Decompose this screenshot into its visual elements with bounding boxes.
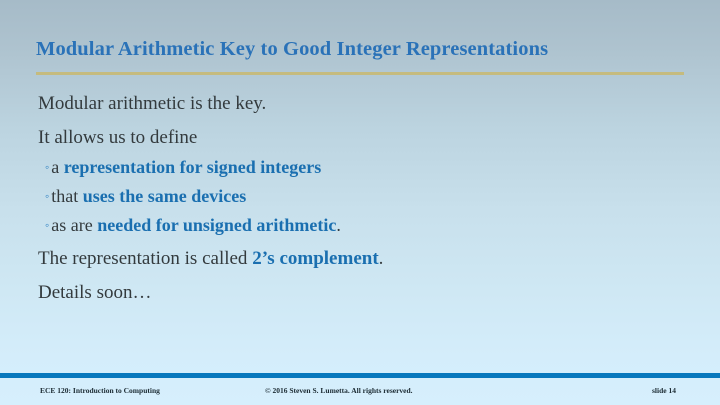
slide-body: Modular arithmetic is the key. It allows… <box>38 88 678 302</box>
body-line-3: The representation is called 2’s complem… <box>38 249 678 268</box>
body-line-3-emphasis: 2’s complement <box>252 248 378 269</box>
body-line-3-tail: . <box>379 248 384 269</box>
body-line-2: It allows us to define <box>38 128 678 147</box>
list-item-emphasis: representation for signed integers <box>64 157 321 177</box>
footer-course-label: ECE 120: Introduction to Computing <box>40 386 160 395</box>
list-item: ◦as are needed for unsigned arithmetic. <box>38 216 678 234</box>
hollow-circle-bullet-icon: ◦ <box>45 160 49 174</box>
hollow-circle-bullet-icon: ◦ <box>45 218 49 232</box>
hollow-circle-bullet-icon: ◦ <box>45 189 49 203</box>
list-item-emphasis: needed for unsigned arithmetic <box>97 215 336 235</box>
list-item: ◦a representation for signed integers <box>38 158 678 176</box>
list-item-tail: . <box>336 215 341 235</box>
footer-copyright-label: © 2016 Steven S. Lumetta. All rights res… <box>265 386 413 395</box>
list-item-lead: a <box>51 157 64 177</box>
body-line-3-lead: The representation is called <box>38 248 252 269</box>
footer-divider-bar <box>0 373 720 378</box>
list-item-emphasis: uses the same devices <box>83 186 246 206</box>
slide-title: Modular Arithmetic Key to Good Integer R… <box>36 38 686 61</box>
slide-footer: ECE 120: Introduction to Computing © 201… <box>0 386 720 400</box>
body-line-1: Modular arithmetic is the key. <box>38 94 678 113</box>
footer-slide-number: slide 14 <box>652 386 676 395</box>
title-underline-rule <box>36 72 684 75</box>
list-item-lead: as are <box>51 215 97 235</box>
slide: Modular Arithmetic Key to Good Integer R… <box>0 0 720 405</box>
list-item-lead: that <box>51 186 83 206</box>
body-line-4: Details soon… <box>38 283 678 302</box>
list-item: ◦that uses the same devices <box>38 187 678 205</box>
